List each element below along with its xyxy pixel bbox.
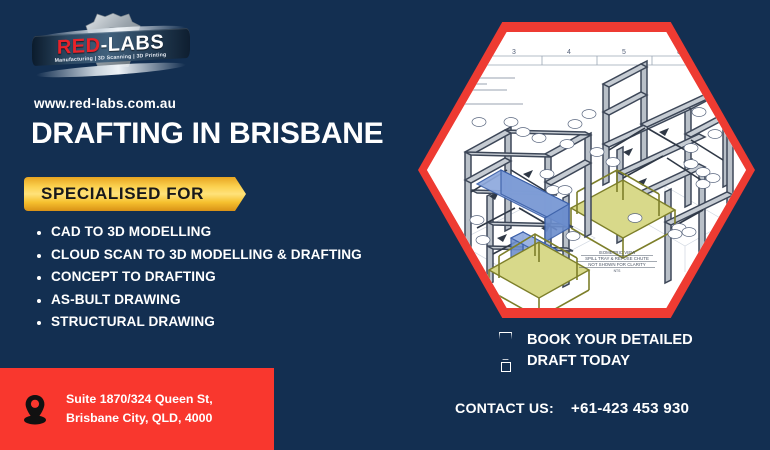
website-url[interactable]: www.red-labs.com.au [34,96,176,111]
cad-note-line-1: ISOMETRIC VIEW [599,250,637,255]
contact-block[interactable]: CONTACT US: +61-423 453 930 [455,400,689,417]
ruler-mark: 4 [567,49,571,56]
service-label: CONCEPT TO DRAFTING [51,269,216,284]
list-item: CONCEPT TO DRAFTING [33,269,433,284]
services-list: CAD TO 3D MODELLING CLOUD SCAN TO 3D MOD… [33,224,433,337]
map-pin-icon [22,393,48,425]
list-item: CLOUD SCAN TO 3D MODELLING & DRAFTING [33,247,433,262]
address-line-1: Suite 1870/324 Queen St, [66,390,213,409]
list-item: AS-BULT DRAWING [33,292,433,307]
service-label: CLOUD SCAN TO 3D MODELLING & DRAFTING [51,247,362,262]
cad-note-line-2: SPILL TRAY & REFUSE CHUTE [585,256,649,261]
cta-line-1: BOOK YOUR DETAILED [527,330,693,351]
marketing-banner: RED-LABS Manufacturing | 3D Scanning | 3… [0,0,770,450]
service-label: AS-BULT DRAWING [51,292,181,307]
ruler-mark: 5 [622,49,626,56]
bullet-dot-icon [37,299,41,303]
company-logo[interactable]: RED-LABS Manufacturing | 3D Scanning | 3… [28,8,193,93]
exclamation-dot [501,362,511,372]
address-text: Suite 1870/324 Queen St, Brisbane City, … [66,390,213,428]
cta-line-2: DRAFT TODAY [527,351,693,372]
cta-text: BOOK YOUR DETAILED DRAFT TODAY [527,330,693,371]
cad-note-line-3: NOT SHOWN FOR CLARITY [588,262,646,267]
list-item: STRUCTURAL DRAWING [33,314,433,329]
list-item: CAD TO 3D MODELLING [33,224,433,239]
page-title: DRAFTING IN BRISBANE [31,119,383,149]
service-label: CAD TO 3D MODELLING [51,224,211,239]
contact-label: CONTACT US: [455,401,554,417]
cad-note-scale: NTS [614,269,622,273]
address-line-2: Brisbane City, QLD, 4000 [66,409,213,428]
ribbon-label: SPECIALISED FOR [24,184,204,204]
service-label: STRUCTURAL DRAWING [51,314,215,329]
bullet-dot-icon [37,276,41,280]
cta-block[interactable]: BOOK YOUR DETAILED DRAFT TODAY [497,330,693,371]
exclamation-bar [499,332,512,360]
ruler-mark: 3 [512,49,516,56]
address-block: Suite 1870/324 Queen St, Brisbane City, … [0,368,274,450]
bullet-dot-icon [37,254,41,258]
contact-phone[interactable]: +61-423 453 930 [571,400,689,417]
bullet-dot-icon [37,231,41,235]
specialised-ribbon: SPECIALISED FOR [24,177,246,211]
exclamation-icon [497,332,513,370]
bullet-dot-icon [37,321,41,325]
